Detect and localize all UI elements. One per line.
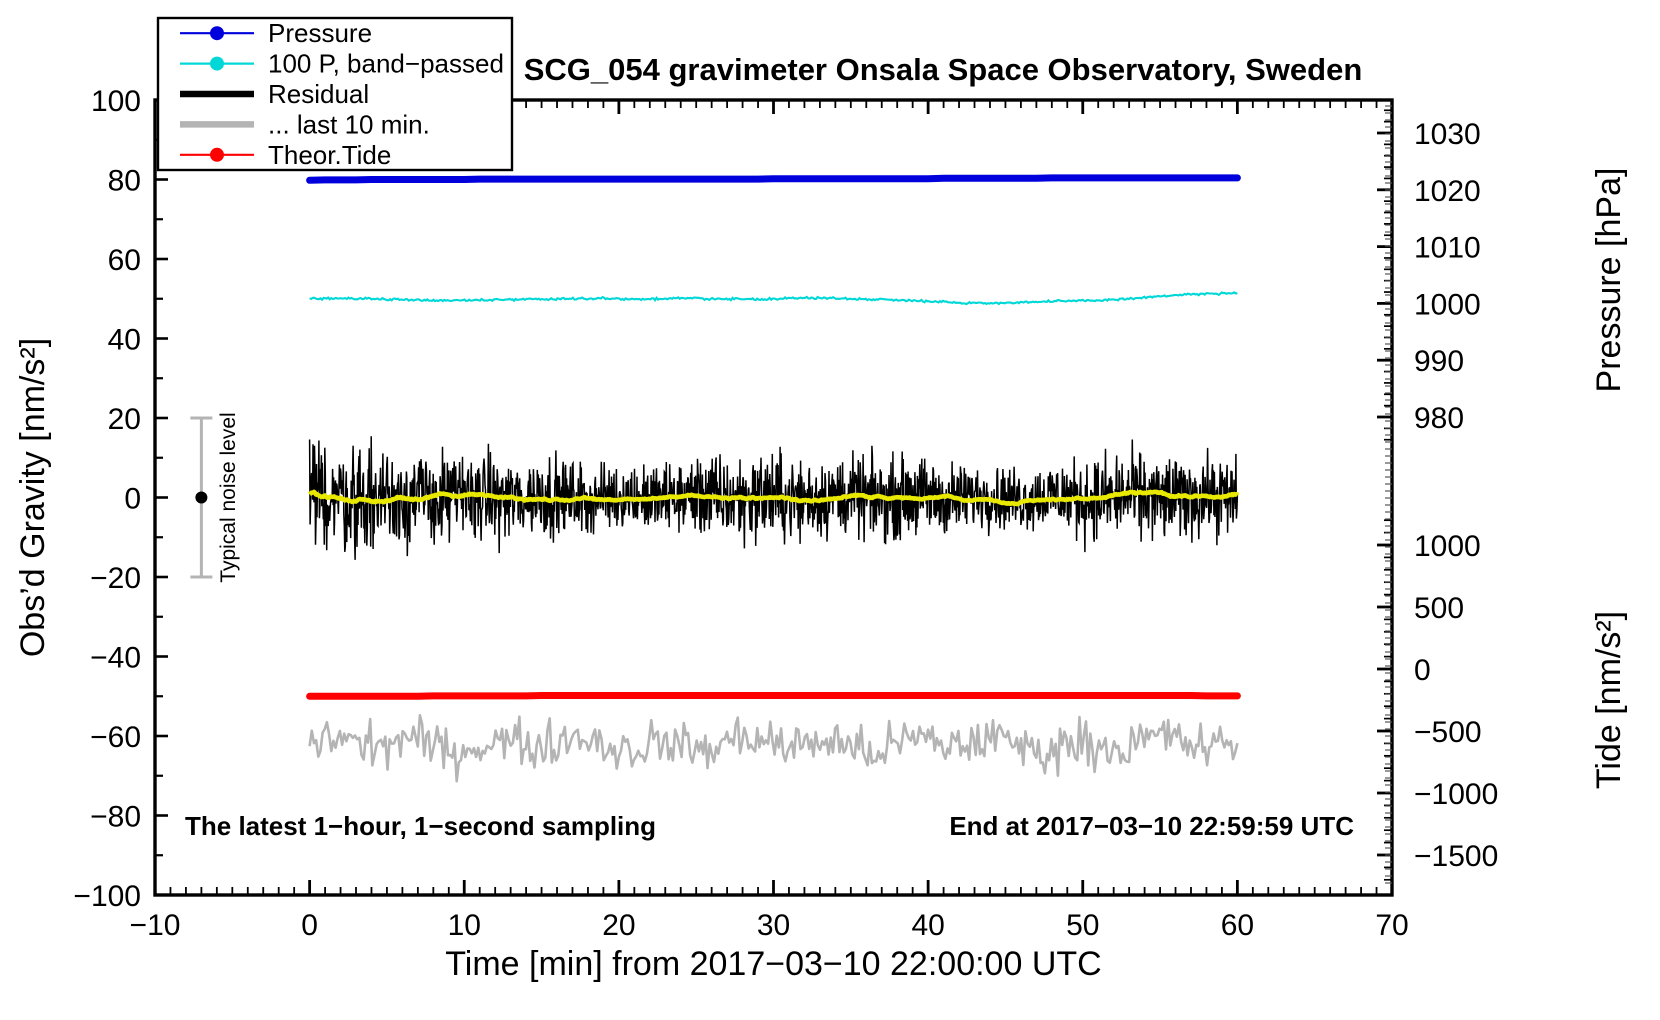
right-axis-tide-tick-label: −500 (1414, 716, 1482, 749)
chart-svg: Typical noise level100806040200−20−40−60… (0, 0, 1660, 1020)
bottom-axis-tick-label: 40 (911, 909, 944, 942)
left-axis-tick-label: 60 (108, 244, 141, 277)
left-axis-tick-label: −80 (90, 801, 141, 834)
right-axis-tide-title: Tide [nm/s²] (1590, 611, 1628, 789)
left-axis-title: Obs’d Gravity [nm/s²] (14, 338, 52, 657)
left-axis-tick-label: −20 (90, 562, 141, 595)
right-axis-tide-tick-label: −1500 (1414, 840, 1498, 873)
bottom-axis-tick-label: 10 (448, 909, 481, 942)
figure-root: Typical noise level100806040200−20−40−60… (0, 0, 1660, 1020)
right-axis-tide-tick-label: 1000 (1414, 530, 1481, 563)
legend-swatch-marker (210, 57, 224, 71)
right-axis-pressure-tick-label: 1020 (1414, 175, 1481, 208)
bottom-axis-tick-label: 60 (1221, 909, 1254, 942)
left-axis-tick-label: 80 (108, 165, 141, 198)
right-axis-tide-tick-label: −1000 (1414, 778, 1498, 811)
right-axis-pressure-tick-label: 1000 (1414, 288, 1481, 321)
legend-swatch-marker (210, 148, 224, 162)
legend-item-label: ... last 10 min. (268, 109, 430, 139)
series-theor-tide (310, 696, 1238, 697)
left-axis-tick-label: 20 (108, 403, 141, 436)
noise-bar-center-dot (195, 492, 207, 504)
bottom-axis-tick-label: 50 (1066, 909, 1099, 942)
left-axis-tick-label: −60 (90, 721, 141, 754)
bottom-axis-tick-label: 20 (602, 909, 635, 942)
bottom-axis-tick-label: 30 (757, 909, 790, 942)
right-axis-pressure-tick-label: 990 (1414, 345, 1464, 378)
legend-layer[interactable]: Pressure100 P, band−passedResidual... la… (158, 18, 512, 170)
page-title: SCG_054 gravimeter Onsala Space Observat… (524, 52, 1363, 87)
legend-swatch-marker (210, 26, 224, 40)
left-axis-tick-label: 100 (91, 85, 141, 118)
footer-left-text: The latest 1−hour, 1−second sampling (185, 811, 656, 841)
right-axis-pressure-tick-label: 980 (1414, 402, 1464, 435)
right-axis-tide-tick-label: 500 (1414, 592, 1464, 625)
bottom-axis-tick-label: −10 (130, 909, 181, 942)
legend-item-label: 100 P, band−passed (268, 49, 504, 79)
right-axis-pressure-tick-label: 1010 (1414, 232, 1481, 265)
legend-item-label: Residual (268, 79, 369, 109)
left-axis-tick-label: −40 (90, 642, 141, 675)
footer-right-text: End at 2017−03−10 22:59:59 UTC (949, 811, 1354, 841)
right-axis-pressure-title: Pressure [hPa] (1590, 168, 1628, 393)
bottom-axis-title: Time [min] from 2017−03−10 22:00:00 UTC (445, 945, 1101, 983)
left-axis-tick-label: 0 (124, 483, 141, 516)
right-axis-pressure-tick-label: 1030 (1414, 118, 1481, 151)
series-pressure (310, 178, 1238, 180)
legend-item-label: Theor.Tide (268, 140, 391, 170)
bottom-axis-tick-label: 0 (301, 909, 318, 942)
noise-level-label: Typical noise level (217, 412, 240, 582)
bottom-axis-tick-label: 70 (1375, 909, 1408, 942)
legend-item-label: Pressure (268, 18, 372, 48)
left-axis-tick-label: 40 (108, 324, 141, 357)
right-axis-tide-tick-label: 0 (1414, 654, 1431, 687)
